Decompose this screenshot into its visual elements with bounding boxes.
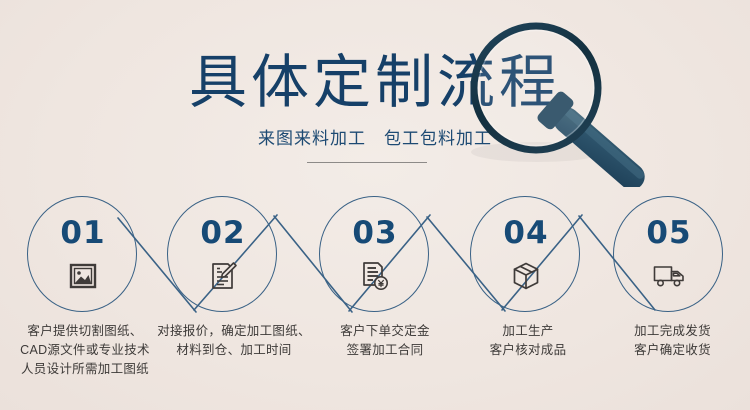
process-step-03[interactable]: 03 [319, 196, 431, 314]
process-step-05[interactable]: 05 [613, 196, 725, 314]
caption-line: 签署加工合同 [305, 341, 465, 360]
image-photo-icon [27, 256, 139, 296]
process-step-01[interactable]: 01 [27, 196, 139, 314]
caption-line: 加工完成发货 [595, 322, 750, 341]
step-number: 01 [27, 216, 139, 250]
document-edit-pencil-icon [167, 256, 279, 296]
step-caption-04: 加工生产 客户核对成品 [452, 322, 604, 360]
caption-line: 加工生产 [452, 322, 604, 341]
caption-line: 对接报价，确定加工图纸、 [148, 322, 320, 341]
caption-line: 客户提供切割图纸、 [0, 322, 170, 341]
caption-line: CAD源文件或专业技术 [0, 341, 170, 360]
step-caption-03: 客户下单交定金 签署加工合同 [305, 322, 465, 360]
step-captions: 客户提供切割图纸、 CAD源文件或专业技术 人员设计所需加工图纸 对接报价，确定… [0, 322, 750, 410]
caption-line: 客户核对成品 [452, 341, 604, 360]
process-step-02[interactable]: 02 [167, 196, 279, 314]
caption-line: 客户下单交定金 [305, 322, 465, 341]
step-number: 03 [319, 216, 431, 250]
delivery-truck-icon [613, 256, 725, 296]
step-number: 02 [167, 216, 279, 250]
process-step-04[interactable]: 04 [470, 196, 582, 314]
process-flow-row: 01 02 [0, 190, 750, 320]
contract-payment-icon [319, 256, 431, 296]
custom-process-infographic: 具体定制流程 来图来料加工 包工包料加工 [0, 0, 750, 410]
caption-line: 材料到仓、加工时间 [148, 341, 320, 360]
header-section: 具体定制流程 来图来料加工 包工包料加工 [0, 0, 750, 190]
caption-line: 客户确定收货 [595, 341, 750, 360]
step-number: 04 [470, 216, 582, 250]
step-number: 05 [613, 216, 725, 250]
page-subtitle: 来图来料加工 包工包料加工 [0, 128, 750, 150]
caption-line: 人员设计所需加工图纸 [0, 360, 170, 379]
step-caption-01: 客户提供切割图纸、 CAD源文件或专业技术 人员设计所需加工图纸 [0, 322, 170, 379]
step-caption-05: 加工完成发货 客户确定收货 [595, 322, 750, 360]
step-caption-02: 对接报价，确定加工图纸、 材料到仓、加工时间 [148, 322, 320, 360]
title-divider [307, 162, 427, 163]
page-title: 具体定制流程 [0, 52, 750, 114]
package-box-icon [470, 256, 582, 296]
